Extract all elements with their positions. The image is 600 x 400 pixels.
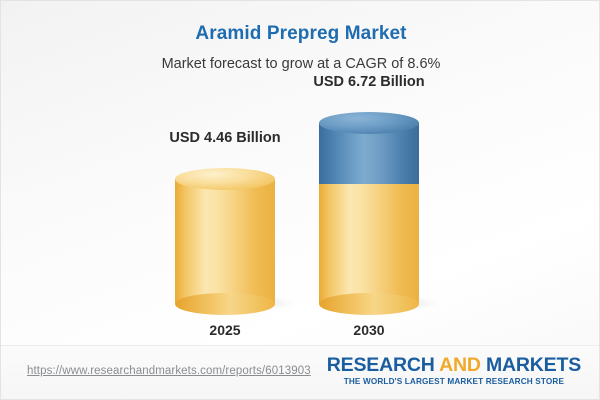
bar-group-2025: USD 4.46 Billion 2025 xyxy=(175,1,275,346)
bar-segment-2030-base xyxy=(319,184,419,304)
bar-value-label-2030: USD 6.72 Billion xyxy=(259,74,479,90)
bar-segment-body xyxy=(175,179,275,304)
bar-cap-top xyxy=(319,112,419,134)
bar-category-label-2030: 2030 xyxy=(299,322,439,338)
bar-cap-bottom xyxy=(175,293,275,315)
brand-wordmark: RESEARCH AND MARKETS xyxy=(327,355,581,375)
report-url-link[interactable]: https://www.researchandmarkets.com/repor… xyxy=(27,365,311,377)
brand-tagline: THE WORLD'S LARGEST MARKET RESEARCH STOR… xyxy=(327,377,581,386)
bar-group-2030: USD 6.72 Billion 2030 xyxy=(319,1,419,346)
bar-cylinder-2025[interactable] xyxy=(175,179,275,304)
brand-word-research: RESEARCH xyxy=(327,354,439,376)
bar-value-label-2025: USD 4.46 Billion xyxy=(115,130,335,146)
brand-logo[interactable]: RESEARCH AND MARKETS THE WORLD'S LARGEST… xyxy=(327,355,581,386)
bar-cap-bottom xyxy=(319,293,419,315)
bar-cap-top xyxy=(175,168,275,190)
brand-word-and: AND xyxy=(439,354,481,376)
bar-category-label-2025: 2025 xyxy=(155,322,295,338)
brand-word-markets: MARKETS xyxy=(481,354,581,376)
bar-segment-body xyxy=(319,184,419,304)
chart-plot-area: USD 4.46 Billion 2025 USD 6.72 Billion xyxy=(1,1,600,346)
footer-bar: https://www.researchandmarkets.com/repor… xyxy=(1,345,599,399)
bar-segment-2030-growth xyxy=(319,123,419,184)
bar-cylinder-2030[interactable] xyxy=(319,123,419,304)
infographic-card: Aramid Prepreg Market Market forecast to… xyxy=(0,0,600,400)
bar-segment-2025-base xyxy=(175,179,275,304)
